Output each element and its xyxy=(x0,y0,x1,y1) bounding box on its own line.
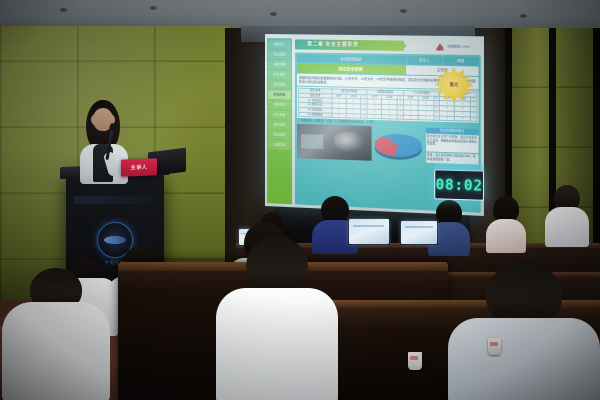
sidepanel-note: 注意：安全责任书签订率应达100%，每年度复核更新一次。 xyxy=(426,153,479,165)
matrix-row-label: 1.4 隐患整改 xyxy=(299,112,332,118)
chevron-right-icon xyxy=(389,41,407,49)
slide-nav-item: 监督检查 xyxy=(268,100,291,110)
slide-nav-item: 事件调查 xyxy=(268,120,291,130)
table-header-cell: 期限 xyxy=(443,57,479,66)
slide-nav-column: 课程导入 安全政策 风险管理 安全保证 安全促进 岗位职责 监督检查 应急处置 … xyxy=(267,38,292,204)
countdown-timer: 08:02 xyxy=(434,169,484,200)
matrix-cell: √ xyxy=(381,114,397,119)
crane-logo-icon xyxy=(435,41,446,51)
paper-cup xyxy=(408,352,422,370)
pie-disc xyxy=(375,134,422,157)
slide-sidepanel: 安全管理体系要点 建立健全安全生产责任制，落实全员安全生产责任，明确各岗位职责范… xyxy=(426,128,479,165)
slide-nav-item-active: 岗位职责 xyxy=(268,90,291,100)
slide-nav-item: 风险管理 xyxy=(268,60,291,69)
audience-laptop xyxy=(400,220,438,245)
organization-logo: 中国民航 CAAC xyxy=(435,40,480,53)
slide-bottom-row: 安全管理体系要点 建立健全安全生产责任制，落实全员安全生产责任，明确各岗位职责范… xyxy=(297,124,479,165)
timer-cap xyxy=(435,163,483,171)
nameplate-text: 主讲人 xyxy=(131,164,148,172)
matrix-cell: √ xyxy=(454,116,470,121)
matrix-cell: √ xyxy=(418,115,434,120)
paper-cup xyxy=(488,338,501,355)
slide-nav-item: 课程导入 xyxy=(268,40,291,49)
matrix-cell: √ xyxy=(471,116,477,121)
slide-nav-item: 安全保证 xyxy=(268,70,291,79)
countdown-timer-value: 08:02 xyxy=(435,175,482,194)
podium-nameplate: 主讲人 xyxy=(121,158,157,176)
slide-title: 第二章 安全主要职责 xyxy=(295,39,404,51)
slide-pie-chart xyxy=(373,126,425,163)
foreground-person-left xyxy=(2,268,110,400)
person-torso xyxy=(545,207,589,247)
audience-person xyxy=(486,196,526,252)
table-header-cell: 责任人 xyxy=(407,56,442,65)
audience-laptop xyxy=(348,218,390,245)
highlight-row-value: 主任岗 xyxy=(406,65,478,76)
audience-person xyxy=(545,185,589,247)
logo-text: 中国民航 CAAC xyxy=(447,44,470,48)
slide-nav-item: 培训考核 xyxy=(268,130,291,140)
matrix-cell: √ xyxy=(440,116,455,121)
matrix-cell: √ xyxy=(346,113,361,118)
slide-nav-item: 安全政策 xyxy=(268,50,291,59)
person-torso xyxy=(486,219,526,253)
slide-nav-item: 应急处置 xyxy=(268,110,291,120)
slide-header: 第二章 安全主要职责 中国民航 CAAC xyxy=(295,38,481,54)
podium-band xyxy=(74,196,156,204)
matrix-cell: √ xyxy=(367,114,381,119)
person-torso xyxy=(448,318,600,400)
person-torso xyxy=(2,302,110,400)
matrix-cell: √ xyxy=(332,113,346,118)
matrix-cell: √ xyxy=(403,115,417,120)
slide-nav-item: 总结回顾 xyxy=(268,140,291,150)
slide-nav-item: 安全促进 xyxy=(268,80,291,90)
conference-photo-scene: 课程导入 安全政策 风险管理 安全保证 安全促进 岗位职责 监督检查 应急处置 … xyxy=(0,0,600,400)
foreground-person-right xyxy=(448,262,600,400)
sidepanel-body: 建立健全安全生产责任制，落实全员安全生产责任，明确各岗位职责范围与考核标准要求。 xyxy=(426,134,479,154)
slide-photo xyxy=(297,124,371,161)
person-torso xyxy=(216,288,338,400)
foreground-person-center xyxy=(216,236,338,400)
